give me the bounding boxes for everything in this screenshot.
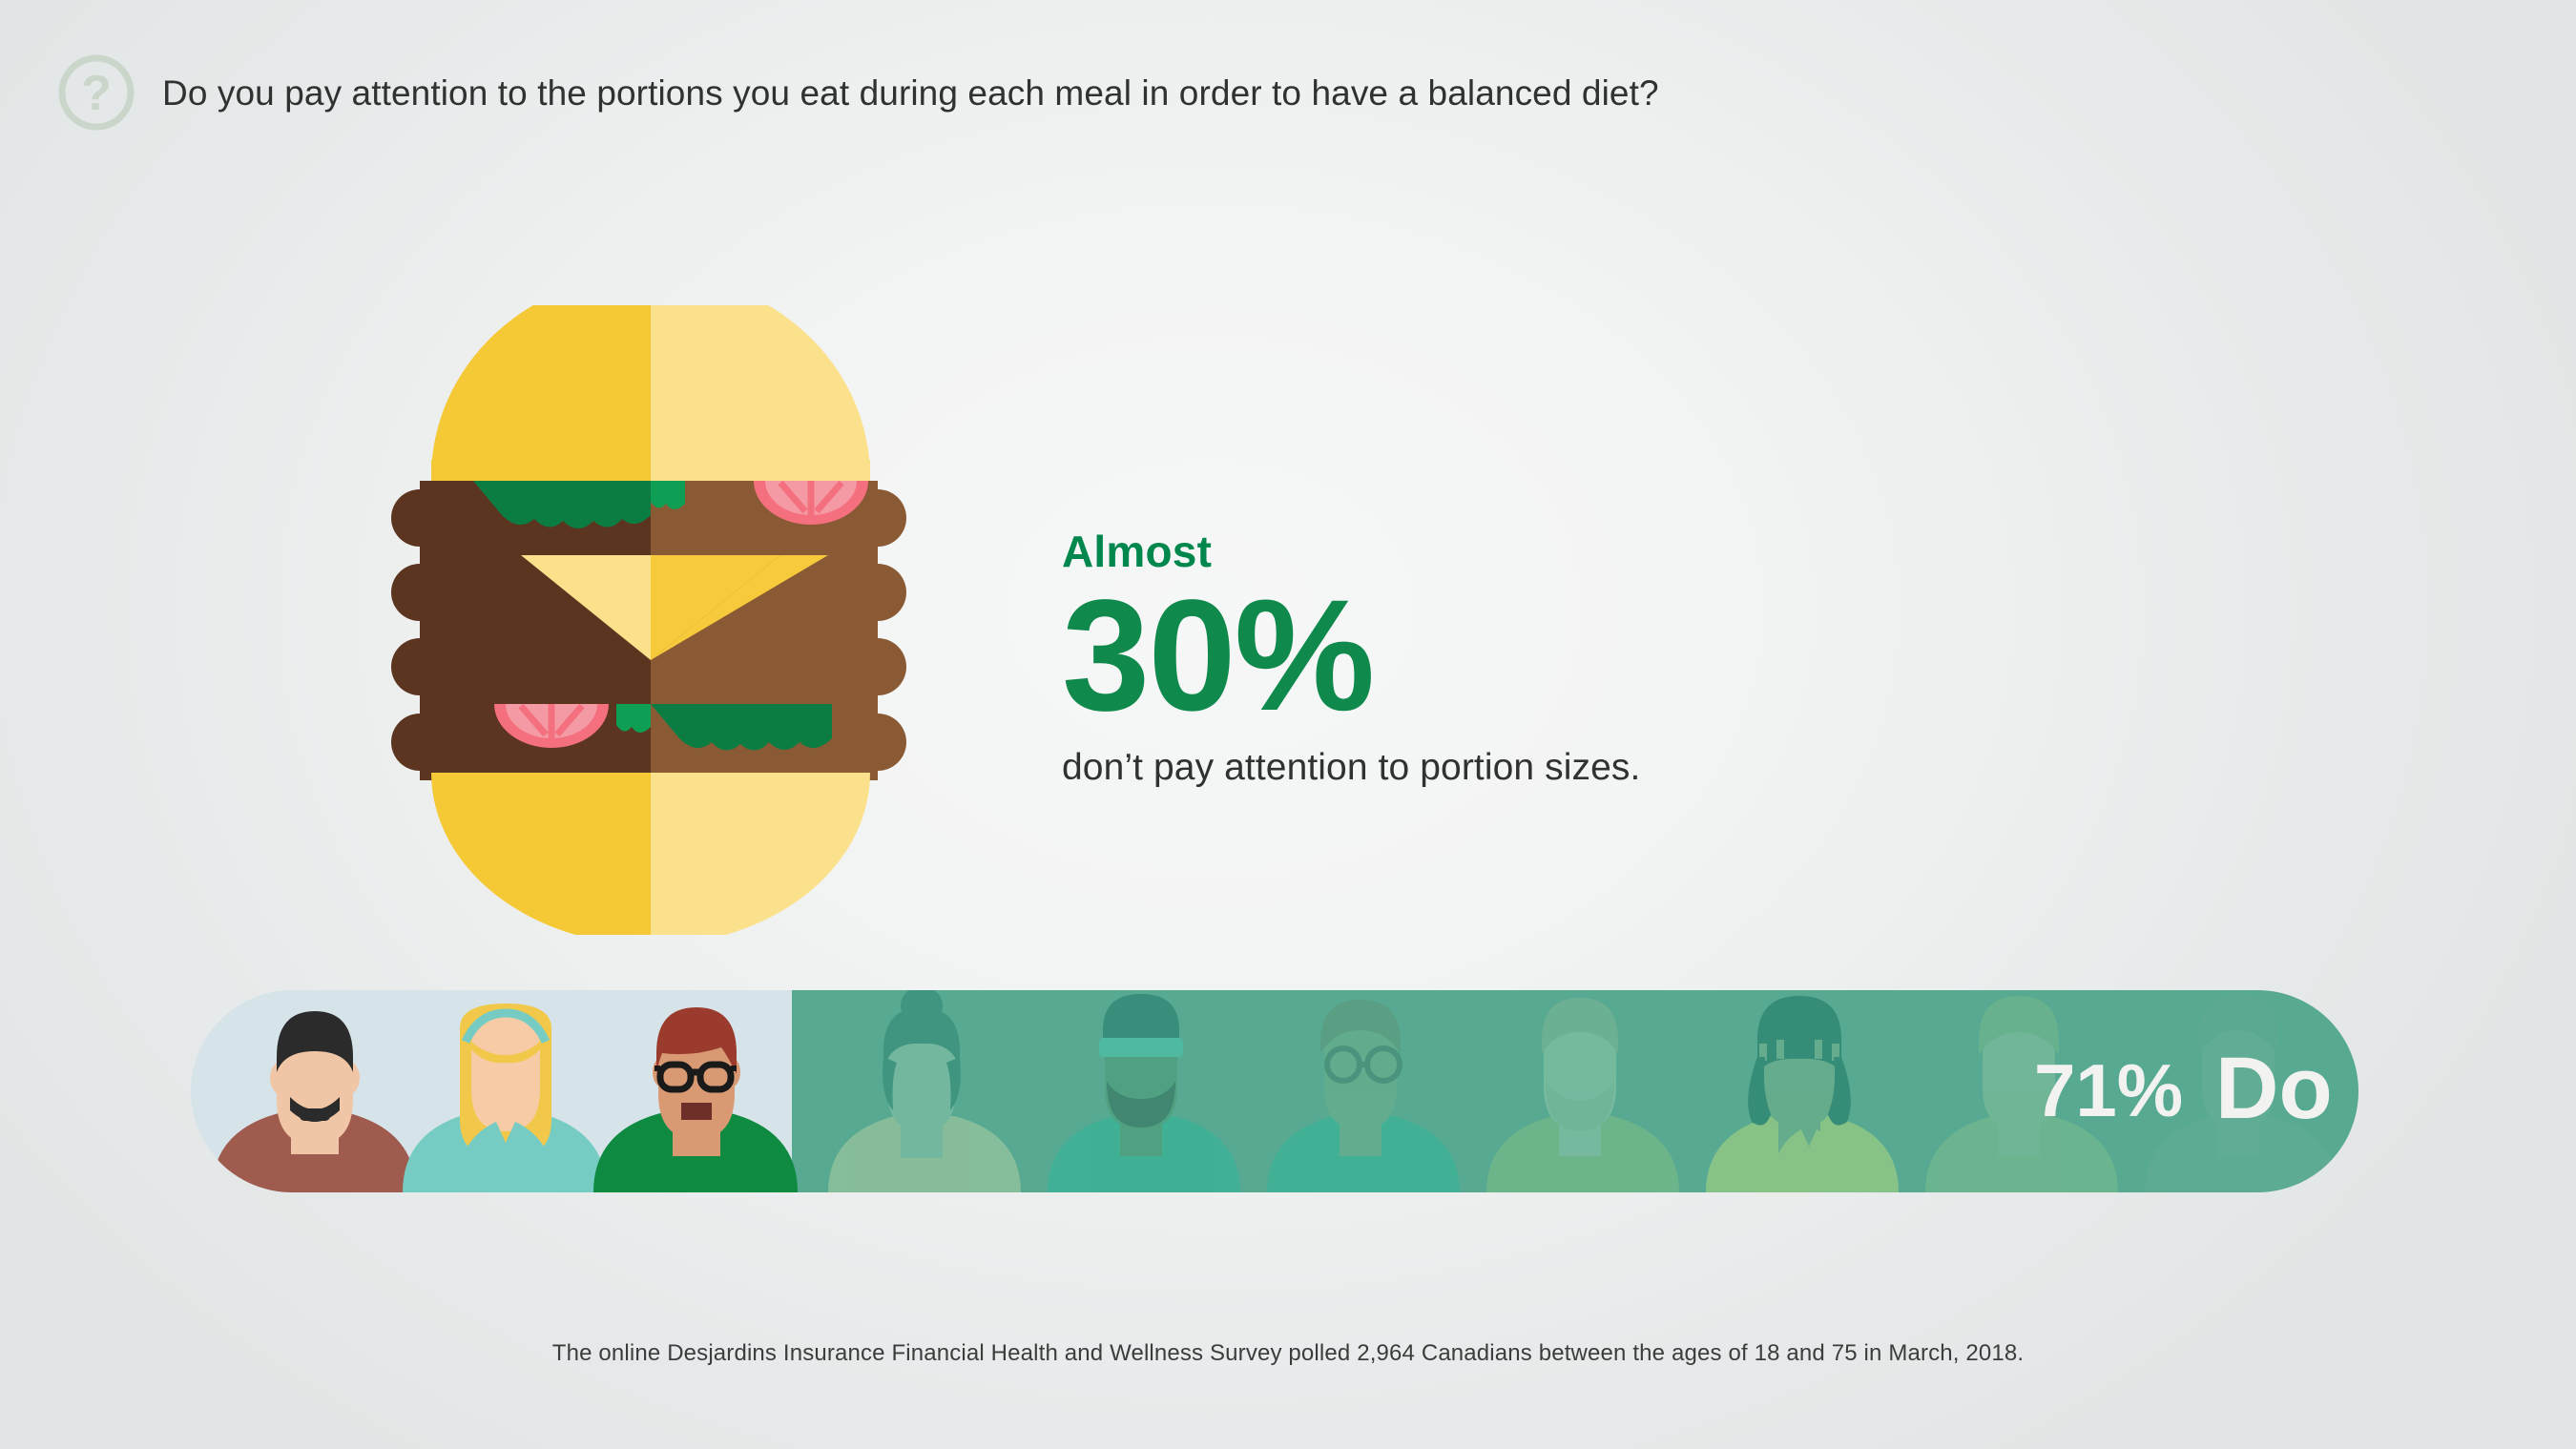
stat-description: don’t pay attention to portion sizes. xyxy=(1062,749,1640,786)
bar-percent-label: 71% xyxy=(2034,1048,2183,1132)
bar-do-word: Do xyxy=(2215,1040,2333,1137)
bar-do-label: Do xyxy=(2215,1040,2333,1137)
header: ? Do you pay attention to the portions y… xyxy=(57,53,1659,132)
svg-text:?: ? xyxy=(81,66,112,121)
bar-percent-value: 71% xyxy=(2034,1048,2183,1132)
hamburger-illustration xyxy=(382,191,1069,1049)
people-proportion-bar: 71% Do xyxy=(191,990,2358,1192)
stat-value: 30% xyxy=(1062,577,1640,735)
source-note: The online Desjardins Insurance Financia… xyxy=(0,1340,2576,1367)
bun-bottom xyxy=(382,763,1069,935)
survey-question: Do you pay attention to the portions you… xyxy=(162,75,1659,111)
question-mark-circle-icon: ? xyxy=(57,53,135,132)
statistic-block: Almost 30% don’t pay attention to portio… xyxy=(1062,529,1640,786)
